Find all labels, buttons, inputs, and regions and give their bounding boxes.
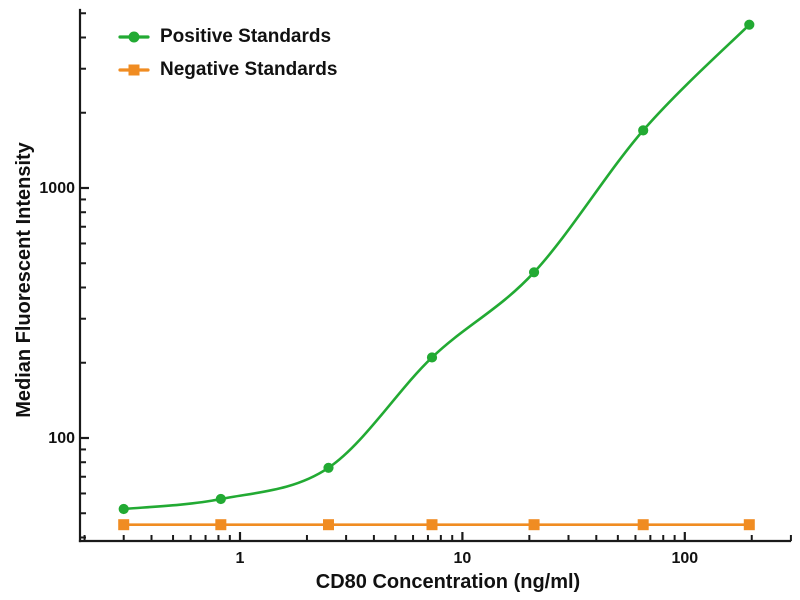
legend-marker-swatch [129,65,139,75]
legend-marker-swatch [129,32,139,42]
x-axis-ticks [85,532,791,541]
data-point-marker [324,463,333,472]
data-series-group [119,20,755,530]
data-point-marker [216,520,226,530]
y-axis-title: Median Fluorescent Intensity [13,141,35,417]
chart-legend: Positive StandardsNegative Standards [120,26,337,80]
y-tick-label: 100 [48,430,75,447]
data-point-marker [638,520,648,530]
x-axis-tick-labels: 110100 [236,550,699,567]
data-point-marker [639,126,648,135]
series-positive-standards [119,20,754,513]
y-axis-ticks [80,13,89,537]
x-axis-title: CD80 Concentration (ng/ml) [316,571,580,593]
x-tick-label: 100 [671,550,698,567]
data-point-marker [529,520,539,530]
data-point-marker [119,520,129,530]
legend-label: Positive Standards [160,26,331,47]
data-point-marker [427,353,436,362]
data-point-marker [427,520,437,530]
x-tick-label: 10 [454,550,472,567]
series-fit-curve [124,25,750,509]
x-tick-label: 1 [236,550,245,567]
chart-container: 1001000 110100 Positive StandardsNegativ… [0,0,800,600]
legend-item[interactable]: Positive Standards [120,26,331,47]
data-point-marker [119,504,128,513]
chart-plot: 1001000 110100 Positive StandardsNegativ… [0,0,800,600]
y-axis-tick-labels: 1001000 [39,180,75,447]
series-negative-standards [119,520,755,530]
data-point-marker [216,494,225,503]
legend-label: Negative Standards [160,59,337,80]
data-point-marker [745,20,754,29]
data-point-marker [324,520,334,530]
data-point-marker [529,268,538,277]
y-tick-label: 1000 [39,180,75,197]
legend-item[interactable]: Negative Standards [120,59,337,80]
data-point-marker [744,520,754,530]
